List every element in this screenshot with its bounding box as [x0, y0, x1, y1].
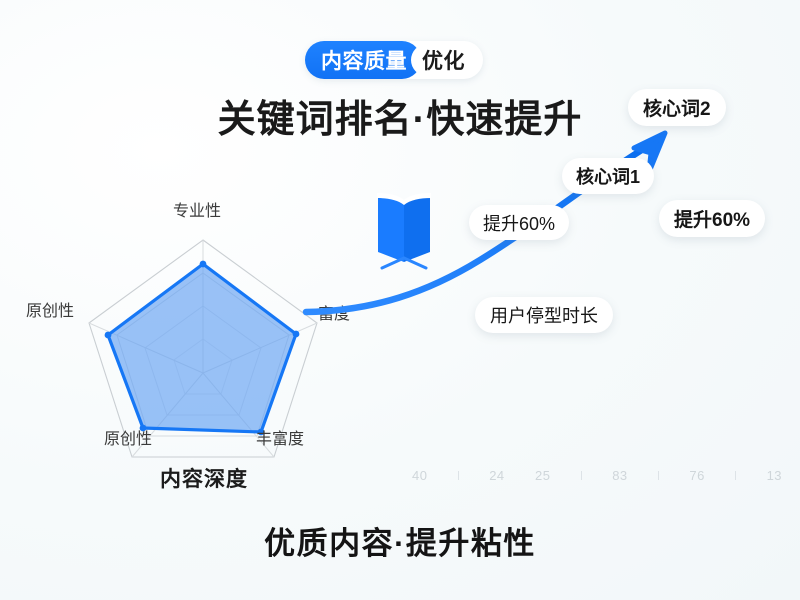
tick-value: 13 — [767, 468, 782, 483]
annotation-uplift-left: 提升60% — [469, 205, 569, 240]
tick-scale: 40 24 25 83 76 13 — [412, 464, 782, 486]
tick-value: 40 — [412, 468, 427, 483]
radar-axis-label-bottom-right: 丰富度 — [256, 425, 304, 449]
tick-mark — [581, 471, 582, 480]
radar-axis-label-top: 专业性 — [173, 197, 221, 221]
tick-mark — [735, 471, 736, 480]
tick-value: 24 — [489, 468, 504, 483]
annotation-core-keyword-2: 核心词2 — [628, 89, 726, 126]
tick-value: 83 — [612, 468, 627, 483]
annotation-uplift-right: 提升60% — [659, 200, 765, 237]
annotation-dwell-time: 用户停型时长 — [475, 297, 613, 333]
tick-value: 25 — [535, 468, 550, 483]
annotation-core-keyword-1: 核心词1 — [562, 158, 654, 194]
tick-mark — [658, 471, 659, 480]
radar-axis-label-left: 原创性 — [26, 297, 74, 321]
footer-title: 优质内容·提升粘性 — [0, 518, 800, 563]
tick-value: 76 — [689, 468, 704, 483]
badge-primary-label: 内容质量 — [305, 41, 421, 79]
poster-canvas: 内容质量 优化 关键词排名·快速提升 — [0, 0, 800, 600]
badge-secondary-label: 优化 — [411, 44, 476, 76]
badge-pill: 内容质量 优化 — [305, 41, 483, 79]
radar-axis-label-bottom-left: 原创性 — [104, 425, 152, 449]
tick-mark — [458, 471, 459, 480]
radar-caption: 内容深度 — [160, 463, 248, 493]
book-icon — [374, 186, 434, 271]
radar-series-content-quality — [105, 261, 300, 436]
